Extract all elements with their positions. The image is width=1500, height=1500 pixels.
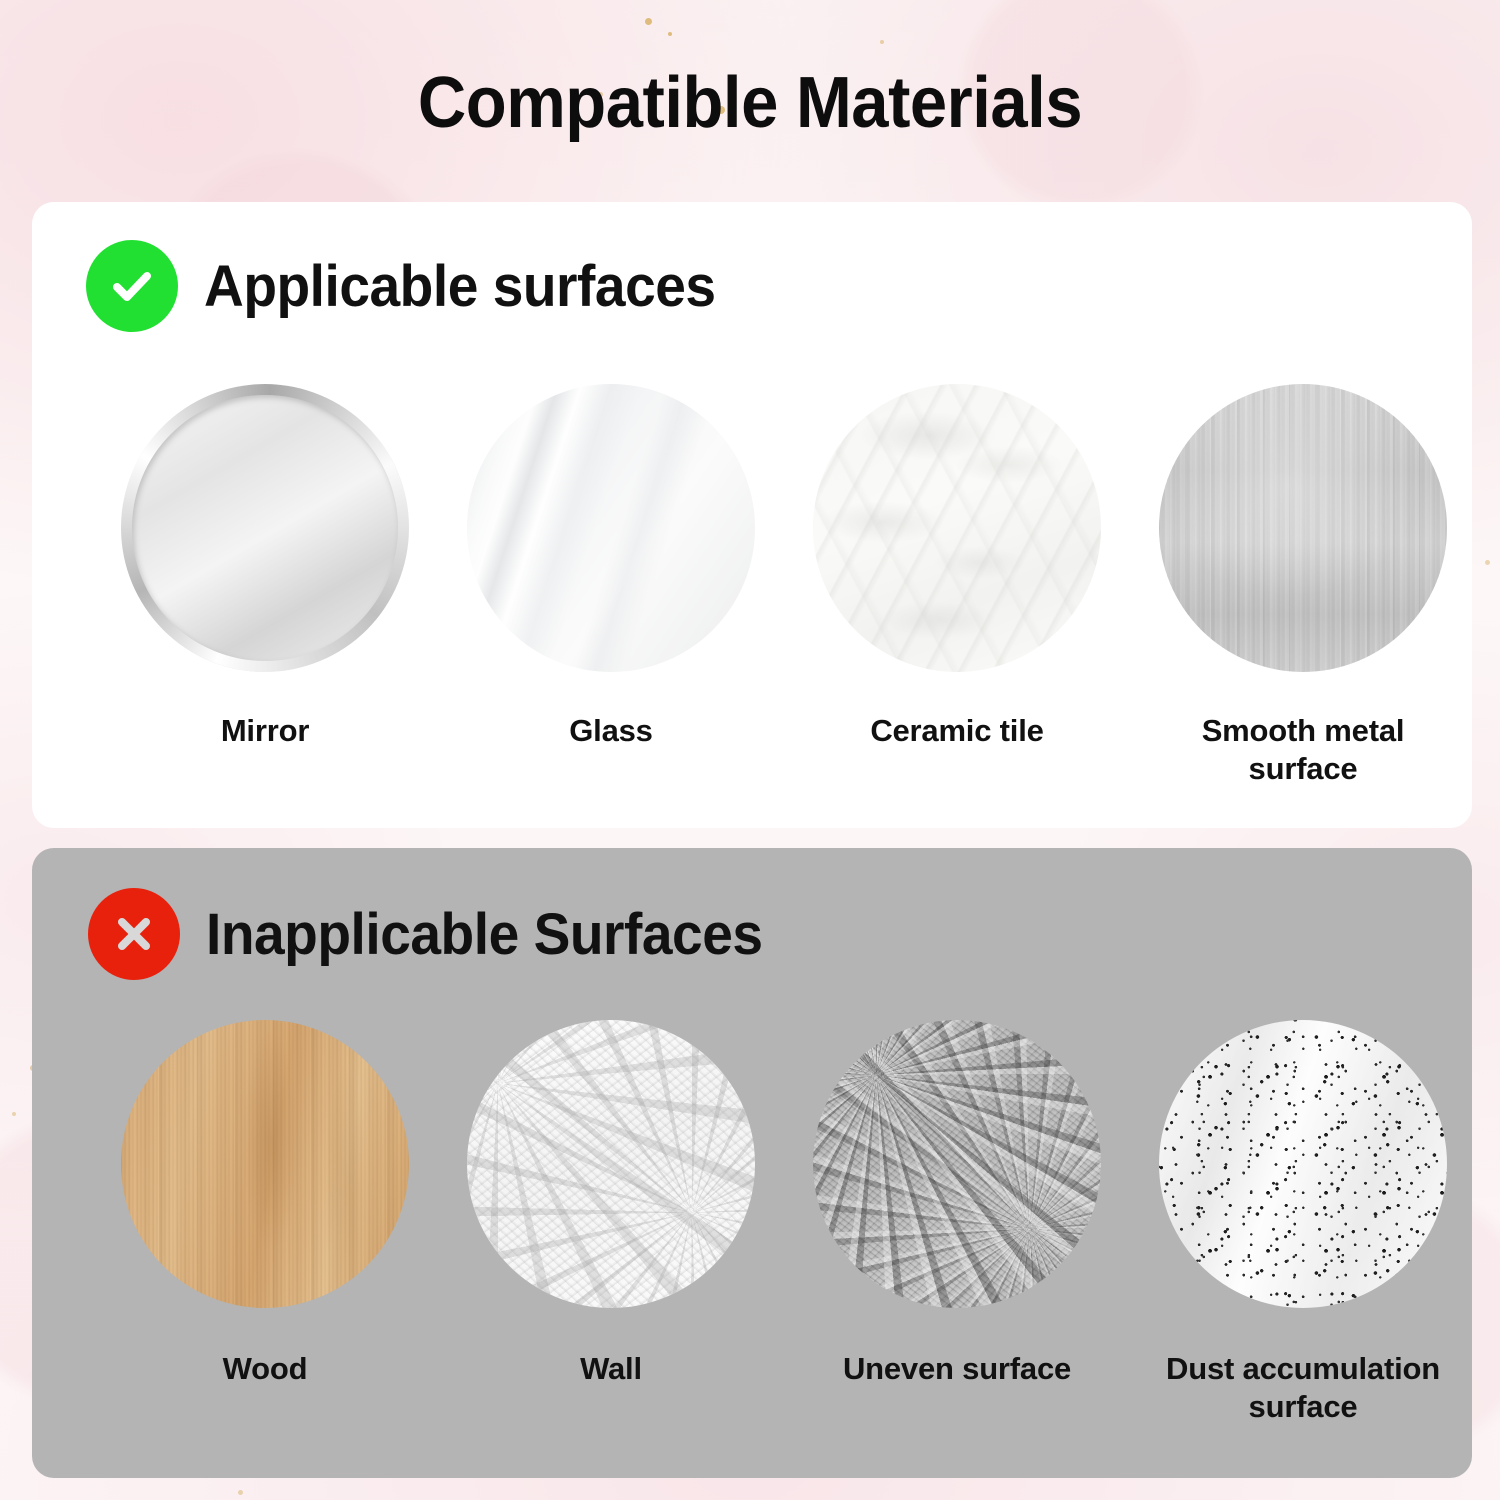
material-item-dust-accumulation: Dust accumulation surface (1130, 1020, 1476, 1426)
page-title: Compatible Materials (53, 62, 1448, 144)
smooth-metal-swatch (1159, 384, 1447, 672)
wall-swatch (467, 1020, 755, 1308)
material-label: Ceramic tile (870, 712, 1043, 750)
material-label: Smooth metal surface (1153, 712, 1453, 788)
infographic-page: Compatible Materials Applicable surfaces… (0, 0, 1500, 1500)
inapplicable-heading: Inapplicable Surfaces (88, 888, 792, 980)
material-label: Uneven surface (843, 1350, 1071, 1388)
ceramic-tile-swatch (813, 384, 1101, 672)
applicable-surfaces-panel: Applicable surfaces Mirror Glass Ceramic… (32, 202, 1472, 828)
applicable-heading-label: Applicable surfaces (204, 253, 716, 320)
material-label: Wood (223, 1350, 308, 1388)
inapplicable-surfaces-panel: Inapplicable Surfaces Wood Wall Uneven s… (32, 848, 1472, 1478)
mirror-swatch (121, 384, 409, 672)
material-item-wall: Wall (438, 1020, 784, 1426)
applicable-swatch-grid: Mirror Glass Ceramic tile Smooth metal s… (92, 384, 1476, 788)
cross-circle-icon (88, 888, 180, 980)
applicable-heading: Applicable surfaces (86, 240, 743, 332)
material-item-glass: Glass (438, 384, 784, 788)
check-circle-icon (86, 240, 178, 332)
material-item-wood: Wood (92, 1020, 438, 1426)
material-item-ceramic-tile: Ceramic tile (784, 384, 1130, 788)
material-label: Dust accumulation surface (1153, 1350, 1453, 1426)
wood-swatch (121, 1020, 409, 1308)
material-label: Mirror (221, 712, 309, 750)
glass-swatch (467, 384, 755, 672)
inapplicable-swatch-grid: Wood Wall Uneven surface Dust accumulati… (92, 1020, 1476, 1426)
material-label: Glass (569, 712, 652, 750)
material-item-mirror: Mirror (92, 384, 438, 788)
inapplicable-heading-label: Inapplicable Surfaces (206, 901, 763, 968)
material-label: Wall (580, 1350, 642, 1388)
material-item-uneven-surface: Uneven surface (784, 1020, 1130, 1426)
dust-accumulation-swatch (1159, 1020, 1447, 1308)
uneven-surface-swatch (813, 1020, 1101, 1308)
material-item-smooth-metal: Smooth metal surface (1130, 384, 1476, 788)
